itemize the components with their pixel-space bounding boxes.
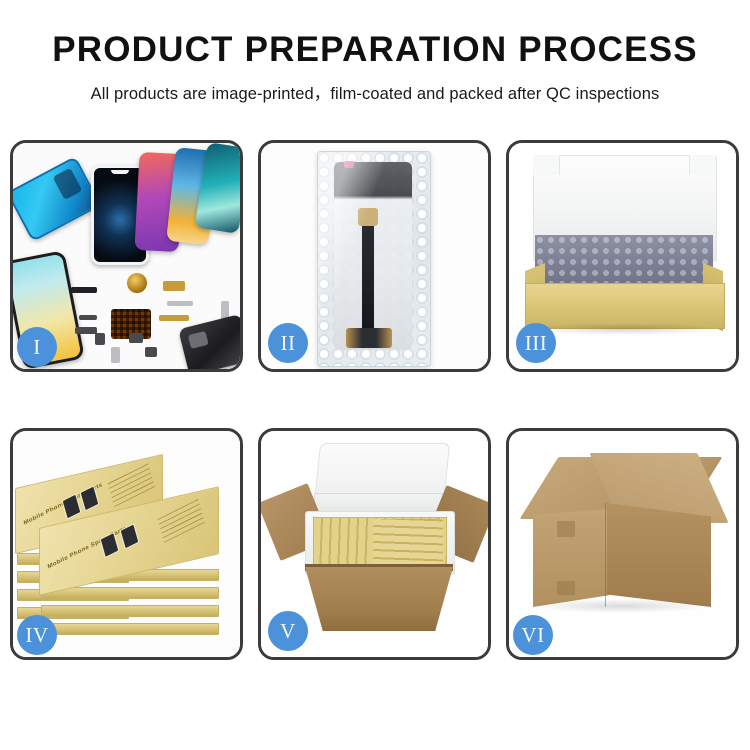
part-small-b — [75, 327, 97, 334]
part-small-a — [79, 315, 97, 320]
part-strip — [71, 287, 97, 293]
part-silver-bar — [167, 301, 193, 306]
carton-tape-lower — [557, 581, 575, 595]
box-edge-9 — [41, 623, 219, 635]
box-edge-8 — [41, 605, 219, 617]
product-preparation-page: PRODUCT PREPARATION PROCESS All products… — [0, 0, 750, 750]
process-step-6[interactable]: VI — [506, 428, 739, 660]
bubble-wrap-bag — [317, 151, 431, 367]
carton-body — [305, 567, 453, 631]
box-spec-lines-b — [157, 497, 205, 543]
page-subtitle: All products are image-printed，film-coat… — [0, 80, 750, 104]
carton-tape-upper — [557, 521, 575, 537]
part-small-d — [129, 333, 143, 343]
plastic-sheen — [318, 152, 430, 366]
step-badge-5: V — [268, 611, 308, 651]
box-lid-tab-left — [533, 155, 560, 175]
carton-face-right — [607, 503, 711, 607]
part-small-c — [95, 333, 105, 345]
part-gold-bracket — [163, 281, 185, 291]
carton-drop-shadow — [535, 599, 707, 613]
process-step-3[interactable]: III — [506, 140, 739, 372]
process-step-1[interactable]: I — [10, 140, 243, 372]
copper-coil-part — [127, 273, 147, 293]
process-step-4[interactable]: Mobile Phone Spare Parts Mobile Phone Sp… — [10, 428, 243, 660]
part-sim-tray — [111, 347, 120, 363]
part-small-e — [145, 347, 157, 357]
process-step-5[interactable]: V — [258, 428, 491, 660]
step-badge-1: I — [17, 327, 57, 367]
box-spec-lines-a — [107, 461, 155, 507]
step-badge-4: IV — [17, 615, 57, 655]
page-header: PRODUCT PREPARATION PROCESS All products… — [0, 0, 750, 104]
process-step-grid: I II — [10, 140, 740, 660]
packed-boxes-row-2 — [373, 519, 443, 565]
step-badge-3: III — [516, 323, 556, 363]
carton-corner-seam — [605, 503, 606, 607]
phone-back-glass-cyan — [13, 156, 102, 242]
part-flex-cable — [159, 315, 189, 321]
box-drop-shadow — [531, 323, 719, 335]
box-lid-tab-right — [689, 155, 716, 175]
step-badge-6: VI — [513, 615, 553, 655]
step-badge-2: II — [268, 323, 308, 363]
process-step-2[interactable]: II — [258, 140, 491, 372]
spare-parts-group — [71, 271, 240, 369]
phone-back-housing — [178, 314, 240, 369]
page-title: PRODUCT PREPARATION PROCESS — [0, 32, 750, 69]
